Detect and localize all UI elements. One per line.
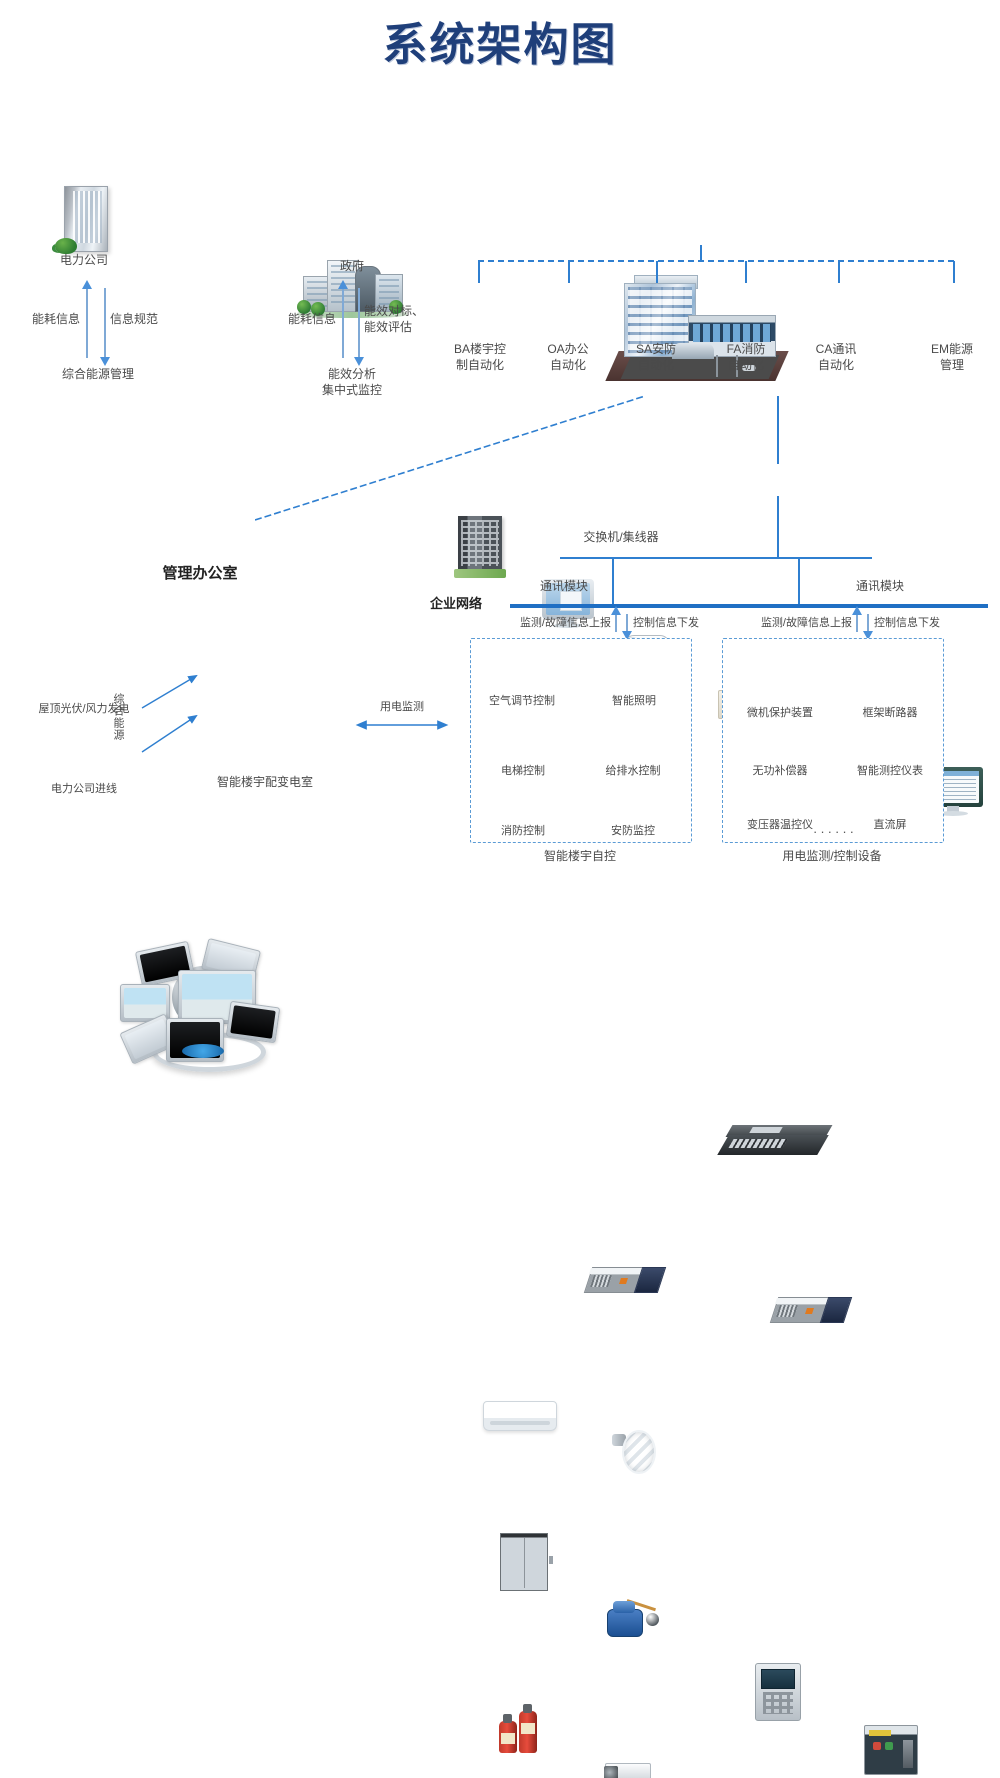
arrow-down-info-spec-label: 信息规范 <box>110 311 186 327</box>
subsystem-label-oa: OA办公 自动化 <box>528 341 608 373</box>
subsystem-drop-4 <box>745 261 747 283</box>
power-company-label: 电力公司 <box>24 252 144 268</box>
office-tower-icon <box>64 186 108 252</box>
extinguisher-small <box>499 1721 517 1753</box>
subsystem-drop-2 <box>568 261 570 283</box>
network-switch-icon <box>723 1125 831 1159</box>
substation-label: 智能楼宇配变电室 <box>170 774 360 790</box>
integrated-energy-management-label: 综合能源管理 <box>20 366 176 382</box>
flow-up-label-left: 监测/故障信息上报 <box>483 616 611 631</box>
circuit-breaker-icon <box>864 1725 918 1775</box>
switch-distribution-bus <box>560 557 872 559</box>
page-title: 系统架构图 <box>0 8 1000 73</box>
panel-left-label-2: 电梯控制 <box>475 764 571 779</box>
subsystem-bus-line <box>478 260 954 262</box>
flow-down-arrow-left <box>626 614 628 632</box>
relay-keypad <box>763 1692 793 1714</box>
switch-uplink-line <box>777 396 779 464</box>
power-monitoring-panel <box>722 638 944 843</box>
multi-screen-globe-icon <box>120 944 280 1074</box>
screen-tile <box>226 1001 281 1044</box>
subsystem-drop-5 <box>838 261 840 283</box>
panel-left-label-4: 消防控制 <box>475 824 571 839</box>
building-automation-panel <box>470 638 692 843</box>
arrow-up-energy-info <box>86 288 88 358</box>
panel-left-label-0: 空气调节控制 <box>468 694 576 709</box>
incoming-line-label: 电力公司进线 <box>16 782 152 797</box>
subsystem-drop-3 <box>656 261 658 283</box>
camera-lens <box>604 1766 618 1778</box>
management-office-link-line <box>255 392 655 522</box>
glow-pad <box>182 1044 224 1058</box>
flow-down-arrow-right <box>867 614 869 632</box>
subsystem-drop-6 <box>953 261 955 283</box>
arrow-up-energy-info-gov-label: 能耗信息 <box>268 311 336 327</box>
enterprise-network-label: 企业网络 <box>430 596 506 612</box>
more-items-dots: ······ <box>780 824 890 839</box>
enterprise-network-bus <box>510 604 988 608</box>
breaker-red-button <box>873 1742 881 1750</box>
power-monitor-double-arrow <box>354 718 450 732</box>
panel-right-label-1: 框架断路器 <box>838 706 942 721</box>
subsystem-drop-1 <box>478 261 480 283</box>
panel-right-label-3: 智能测控仪表 <box>838 764 942 779</box>
communication-module-icon <box>588 1263 666 1293</box>
valve-body <box>607 1609 643 1637</box>
arrow-up-energy-info-label: 能耗信息 <box>14 311 80 327</box>
comm-drop-right <box>798 557 800 605</box>
flow-down-label-right: 控制信息下发 <box>874 616 970 631</box>
power-monitor-arrow-label: 用电监测 <box>356 700 448 715</box>
arrow-up-energy-info-gov <box>342 288 344 358</box>
integrated-energy-arrows <box>140 664 204 760</box>
subsystem-label-fa: FA消防 自动化 <box>706 341 786 373</box>
lamp-spiral <box>622 1430 656 1474</box>
panel-right-label-0: 微机保护装置 <box>728 706 832 721</box>
switch-panel <box>749 1127 782 1133</box>
extinguisher-large <box>519 1711 537 1753</box>
flow-up-arrow-left <box>615 614 617 632</box>
panel-left-label-5: 安防监控 <box>585 824 681 839</box>
panel-right-label-2: 无功补偿器 <box>728 764 832 779</box>
comm-module-right-label: 通讯模块 <box>856 578 926 594</box>
arrow-down-benchmark-gov <box>358 288 360 358</box>
building-drop-line <box>700 245 702 261</box>
switch-downlink-line <box>777 496 779 558</box>
valve-top <box>613 1601 635 1613</box>
arrow-down-info-spec <box>104 288 106 358</box>
rooftop-pv-label: 屋顶光伏/风力发电 <box>12 702 156 717</box>
breaker-label-strip <box>869 1730 891 1736</box>
communication-module-icon <box>774 1293 852 1323</box>
power-monitoring-caption: 用电监测/控制设备 <box>722 848 942 864</box>
subsystem-label-sa: SA安防 自动化 <box>616 341 696 373</box>
subsystem-label-ba: BA楼宇控 制自动化 <box>438 341 522 373</box>
valve-float-ball <box>646 1613 659 1626</box>
building-automation-caption: 智能楼宇自控 <box>470 848 690 864</box>
flow-up-label-right: 监测/故障信息上报 <box>724 616 852 631</box>
breaker-side-panel <box>903 1740 913 1768</box>
air-conditioner-icon <box>483 1401 557 1431</box>
protection-relay-icon <box>755 1663 801 1721</box>
fire-extinguisher-icon <box>497 1703 553 1753</box>
panel-left-label-1: 智能照明 <box>586 694 682 709</box>
flow-up-arrow-right <box>856 614 858 632</box>
building-automation-icon <box>458 516 502 574</box>
comm-module-left-label: 通讯模块 <box>518 578 588 594</box>
management-office-label: 管理办公室 <box>120 566 280 582</box>
government-label: 政府 <box>292 258 412 274</box>
water-valve-icon <box>603 1595 659 1639</box>
document-glyph <box>560 591 582 611</box>
subsystem-label-ca: CA通讯 自动化 <box>796 341 876 373</box>
breaker-green-button <box>885 1742 893 1750</box>
architecture-diagram-canvas: 系统架构图 电力公司 能耗信息 信息规范 综合能源管理 政府 能耗信息 能效对标… <box>0 0 1000 889</box>
surveillance-camera-icon <box>605 1763 665 1778</box>
subsystem-label-em: EM能源 管理 <box>912 341 992 373</box>
switch-ports <box>728 1139 787 1148</box>
integrated-energy-label: 综合能源 <box>110 686 125 748</box>
relay-display <box>761 1669 795 1689</box>
elevator-icon <box>500 1533 548 1591</box>
comm-drop-left <box>612 557 614 605</box>
switch-label: 交换机/集线器 <box>531 529 711 545</box>
elevator-call-panel <box>549 1556 553 1564</box>
panel-left-label-3: 给排水控制 <box>585 764 681 779</box>
arrow-down-benchmark-gov-label: 能效对标、 能效评估 <box>364 303 450 335</box>
cfl-lamp-icon <box>608 1428 654 1474</box>
flow-down-label-left: 控制信息下发 <box>633 616 729 631</box>
